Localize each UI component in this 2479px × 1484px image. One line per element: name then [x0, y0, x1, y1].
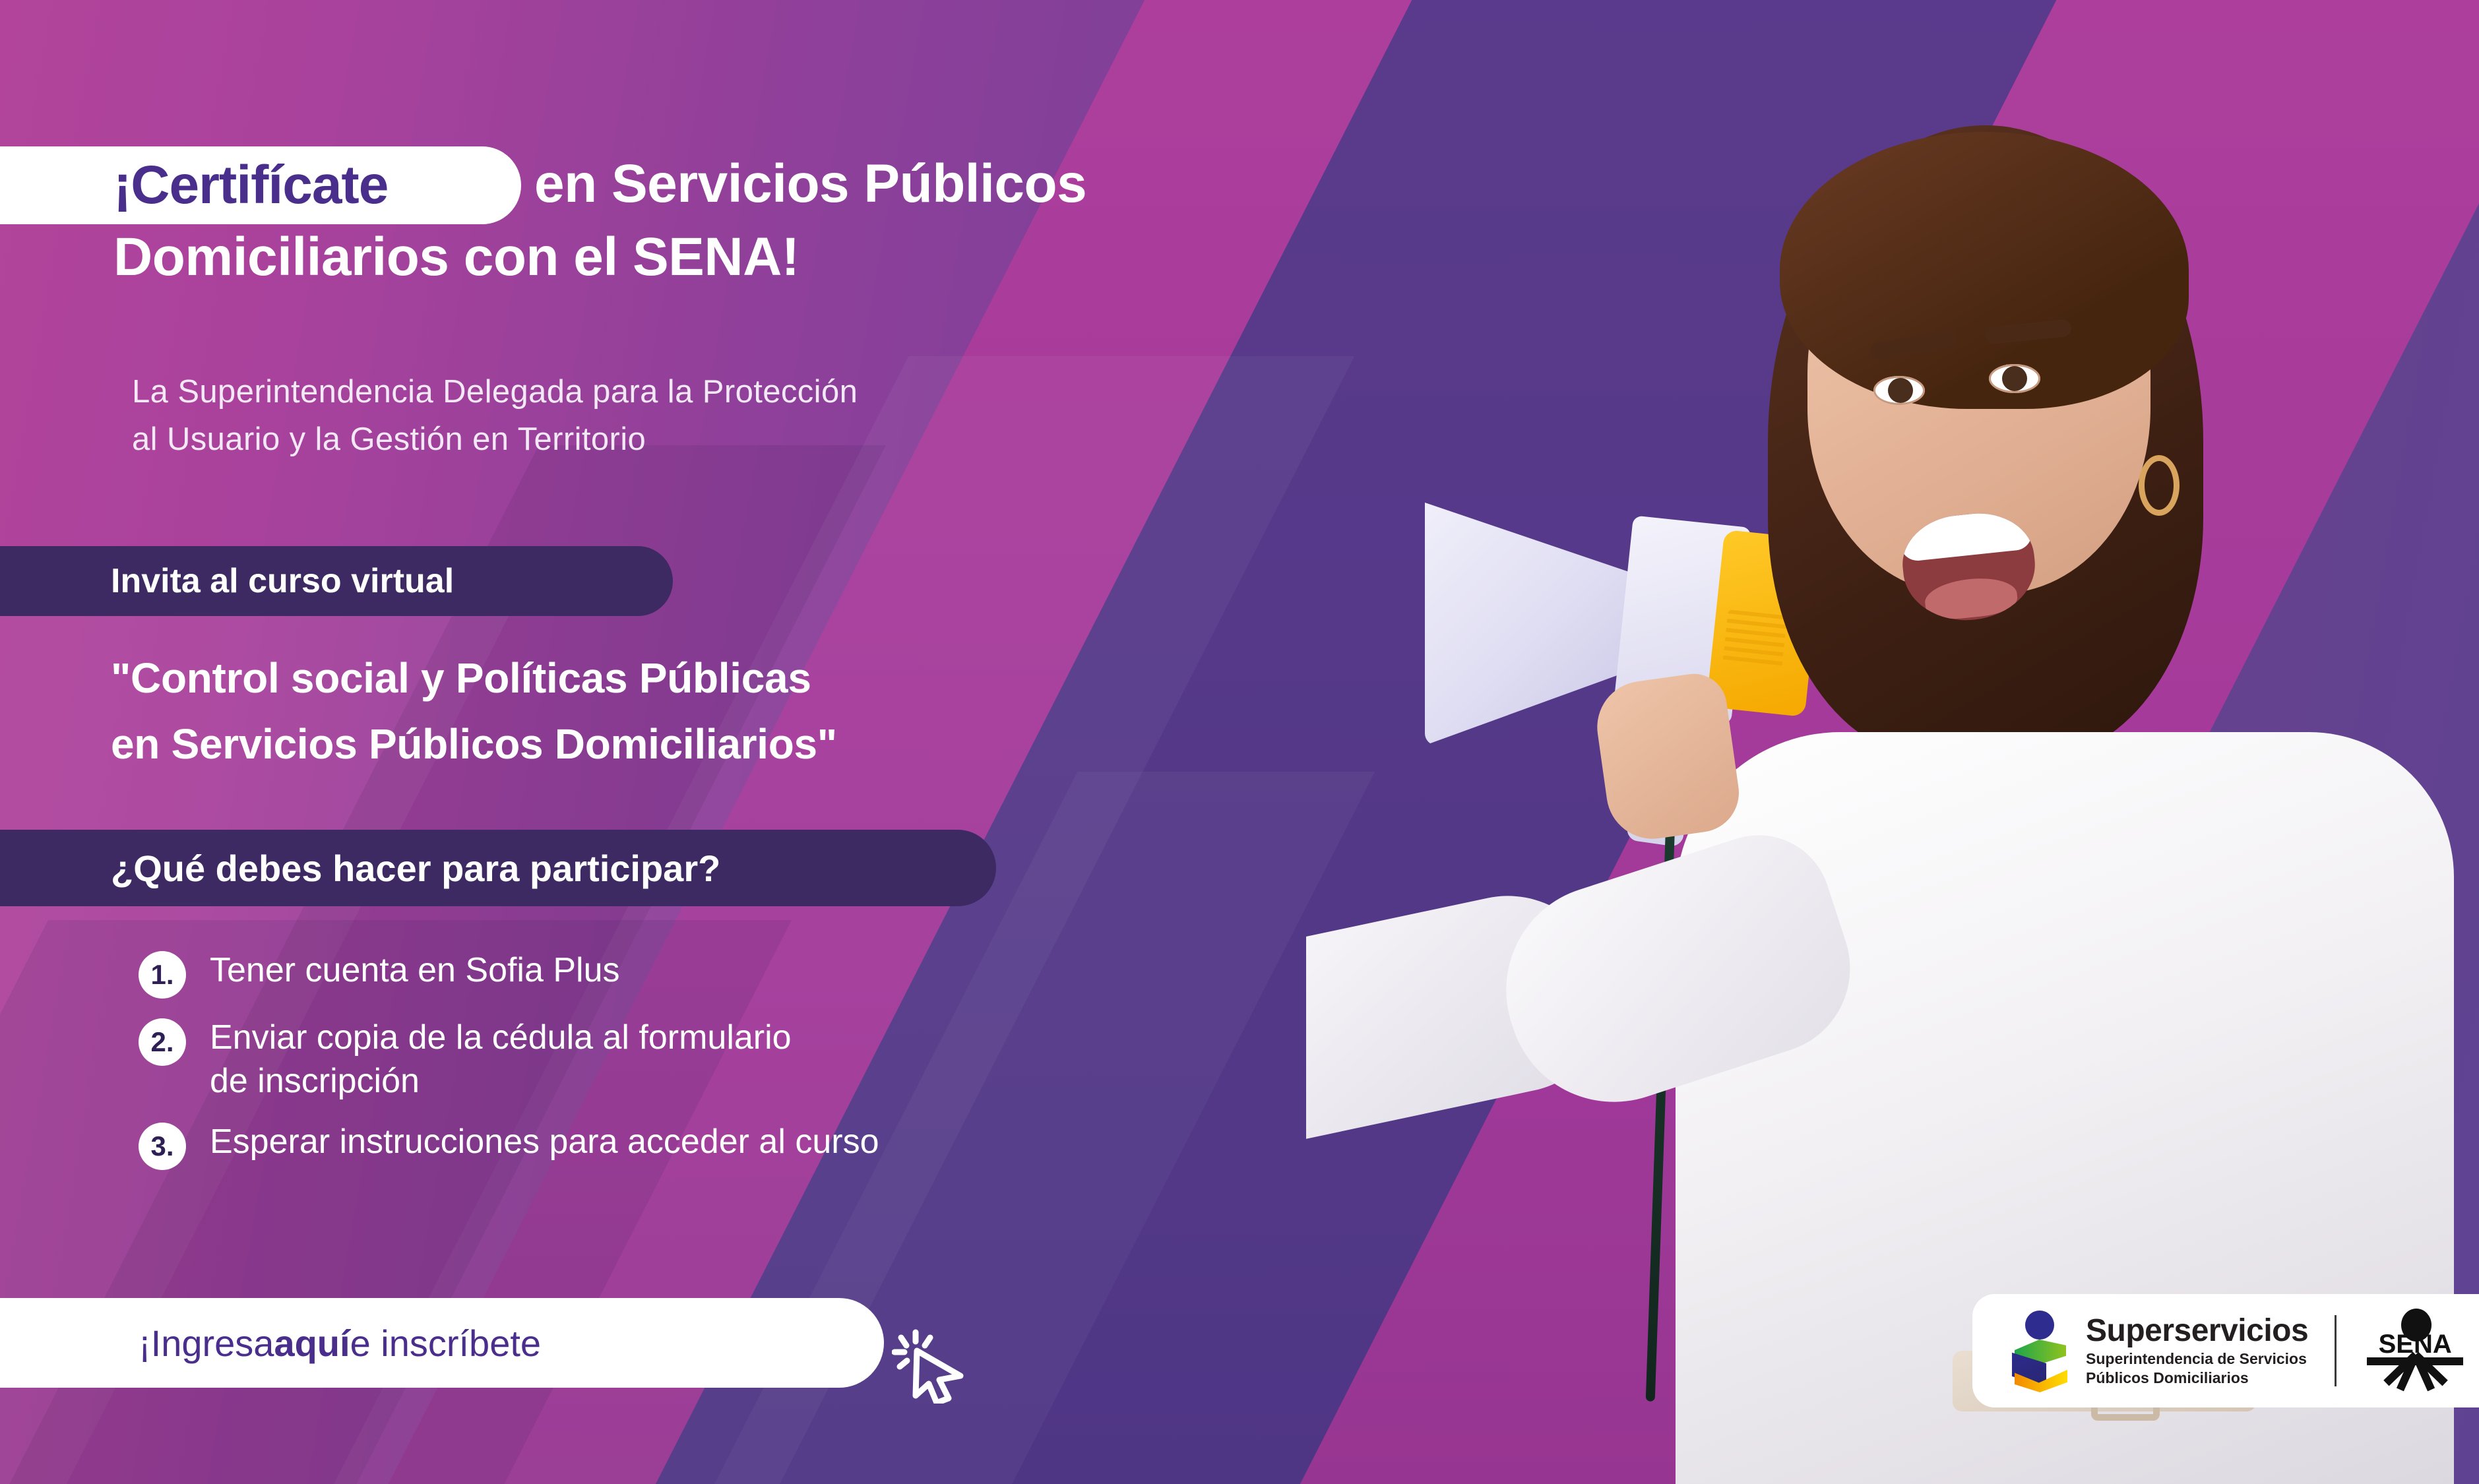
cta-pre-text: ¡Ingresa [139, 1322, 274, 1365]
step-number-badge: 2. [139, 1018, 186, 1066]
promotional-banner: ¡Certifícate en Servicios Públicos Domic… [0, 0, 2479, 1484]
hoop-earring [2139, 455, 2180, 516]
sena-wordmark: SENA [2366, 1331, 2464, 1357]
step-number-badge: 3. [139, 1123, 186, 1170]
hand-gripping-megaphone [1591, 669, 1743, 844]
headline-block: ¡Certifícate en Servicios Públicos Domic… [0, 146, 1352, 226]
ingresa-aqui-cta-button[interactable]: ¡Ingresa aquí e inscríbete [0, 1298, 884, 1388]
superservicios-text-block: Superservicios Superintendencia de Servi… [2086, 1314, 2308, 1388]
step-text: Enviar copia de la cédula al formulario … [210, 1016, 792, 1103]
hair-front [1780, 132, 2189, 409]
headline-rest: en Servicios Públicos [534, 156, 1086, 212]
superservicios-subtitle: Superintendencia de Servicios Públicos D… [2086, 1349, 2308, 1388]
que-debes-hacer-label: ¿Qué debes hacer para participar? [111, 847, 720, 890]
superservicios-cube-person-icon [2011, 1311, 2067, 1391]
pupil [1888, 378, 1913, 403]
list-item: 1. Tener cuenta en Sofia Plus [139, 948, 1260, 999]
logo-divider [2335, 1315, 2337, 1386]
course-title-text: "Control social y Políticas Públicas en … [111, 645, 837, 777]
list-item: 2. Enviar copia de la cédula al formular… [139, 1016, 1260, 1103]
headline-line-2: Domiciliarios con el SENA! [113, 227, 800, 288]
logo-bar: Superservicios Superintendencia de Servi… [1972, 1294, 2479, 1407]
woman-with-megaphone-photo [1306, 0, 2479, 1484]
cta-post-text: e inscríbete [350, 1322, 542, 1365]
click-cursor-icon [892, 1324, 964, 1404]
headline-line2-bold: SENA! [633, 227, 800, 287]
headline-line-1: ¡Certifícate en Servicios Públicos [0, 146, 1352, 226]
invita-curso-pill: Invita al curso virtual [0, 546, 673, 616]
sena-figure-icon: SENA [2366, 1309, 2464, 1393]
headline-highlight-word: ¡Certifícate [113, 157, 388, 214]
cta-bold-text: aquí [274, 1322, 350, 1365]
superservicios-head [2025, 1311, 2054, 1340]
pupil [2002, 366, 2027, 391]
invita-curso-label: Invita al curso virtual [111, 561, 454, 601]
subtitle-text: La Superintendencia Delegada para la Pro… [132, 368, 858, 463]
superservicios-name: Superservicios [2086, 1314, 2308, 1348]
step-text: Tener cuenta en Sofia Plus [210, 948, 620, 992]
list-item: 3. Esperar instrucciones para acceder al… [139, 1120, 1260, 1170]
headline-line2-plain: Domiciliarios con el [113, 227, 633, 287]
step-text: Esperar instrucciones para acceder al cu… [210, 1120, 879, 1163]
que-debes-hacer-pill: ¿Qué debes hacer para participar? [0, 830, 996, 906]
step-number-badge: 1. [139, 951, 186, 999]
steps-list: 1. Tener cuenta en Sofia Plus 2. Enviar … [139, 948, 1260, 1187]
